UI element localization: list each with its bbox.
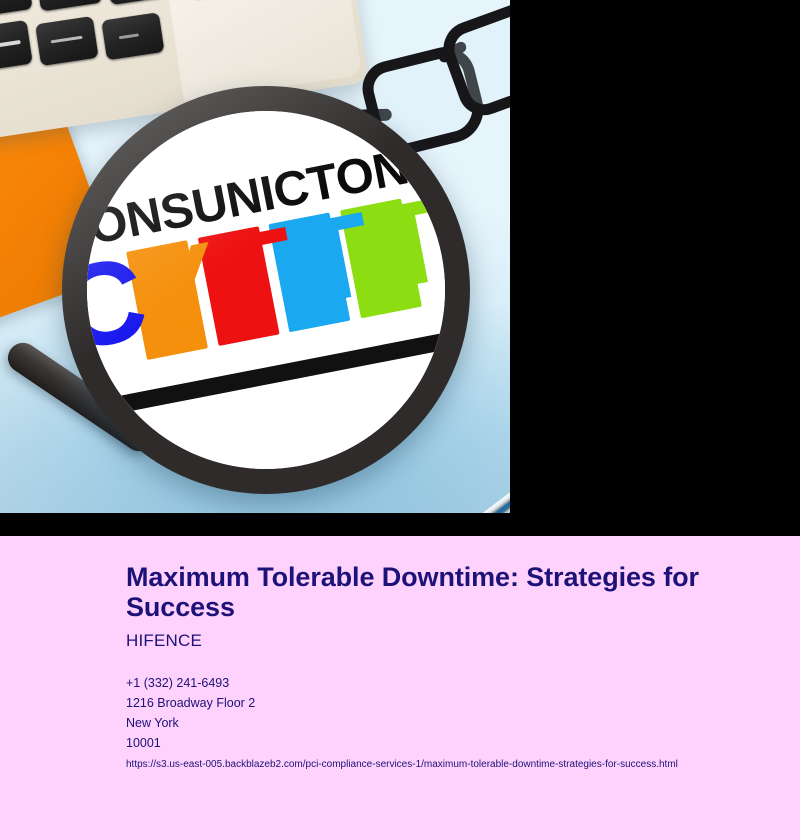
hero-photo: CONSUNICTON C Y T T T xyxy=(0,0,510,513)
page-title: Maximum Tolerable Downtime: Strategies f… xyxy=(126,562,730,622)
keyboard-key xyxy=(35,0,103,12)
keyboard-key xyxy=(0,0,33,20)
keyboard-key xyxy=(0,20,33,73)
contact-details: +1 (332) 241-6493 1216 Broadway Floor 2 … xyxy=(126,673,730,753)
magnifier-lens: CONSUNICTON C Y T T T xyxy=(87,111,445,469)
contact-zip: 10001 xyxy=(126,733,730,753)
info-panel: Maximum Tolerable Downtime: Strategies f… xyxy=(0,536,800,840)
magnifier: CONSUNICTON C Y T T T xyxy=(62,86,470,494)
keyboard-key xyxy=(101,12,164,60)
magnified-paper: CONSUNICTON C Y T T T xyxy=(87,111,445,469)
contact-city: New York xyxy=(126,713,730,733)
contact-phone: +1 (332) 241-6493 xyxy=(126,673,730,693)
keyboard-key xyxy=(35,16,99,66)
hero-media-band: CONSUNICTON C Y T T T xyxy=(0,0,800,536)
organization-name: HIFENCE xyxy=(126,631,730,651)
source-url[interactable]: https://s3.us-east-005.backblazeb2.com/p… xyxy=(126,757,730,773)
contact-street: 1216 Broadway Floor 2 xyxy=(126,693,730,713)
